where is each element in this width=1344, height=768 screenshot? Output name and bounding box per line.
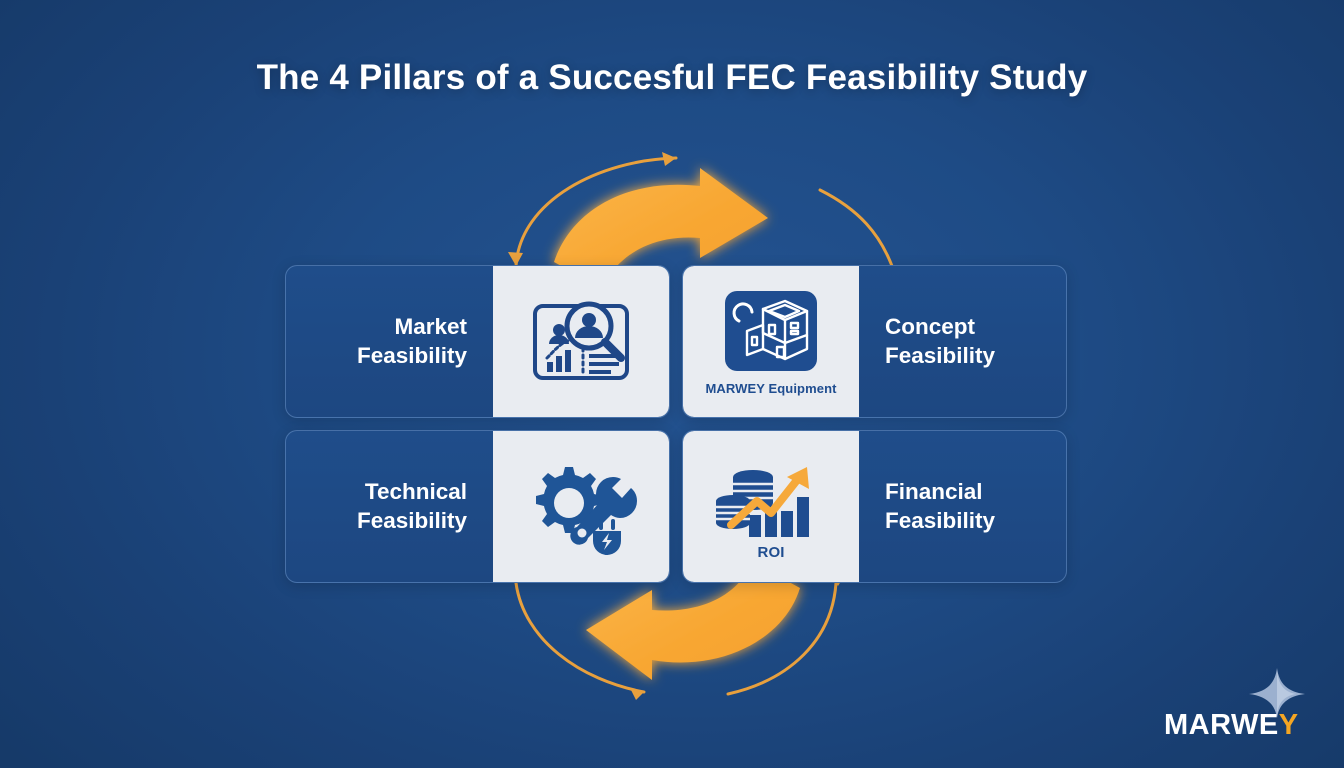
infographic-canvas: The 4 Pillars of a Succesful FEC Feasibi… xyxy=(0,0,1344,768)
logo-word-accent: Y xyxy=(1279,709,1299,741)
thin-arc-bottom xyxy=(516,574,845,700)
card-concept-icon-panel: MARWEY Equipment xyxy=(683,266,859,417)
coins-growth-chart-icon xyxy=(715,453,827,541)
card-market-feasibility[interactable]: Market Feasibility xyxy=(285,265,670,418)
gear-wrench-plug-icon xyxy=(525,459,637,555)
card-technical-feasibility[interactable]: Technical Feasibility xyxy=(285,430,670,583)
card-financial-icon-caption: ROI xyxy=(758,544,785,561)
card-financial-icon-panel: ROI xyxy=(683,431,859,582)
card-concept-feasibility[interactable]: MARWEY Equipment Concept Feasibility xyxy=(682,265,1067,418)
logo-wordmark: MARWEY xyxy=(1164,711,1299,740)
card-technical-label: Technical Feasibility xyxy=(286,431,493,582)
card-market-label: Market Feasibility xyxy=(286,266,493,417)
card-financial-feasibility[interactable]: ROI Financial Feasibility xyxy=(682,430,1067,583)
market-research-icon xyxy=(527,292,635,392)
card-financial-label: Financial Feasibility xyxy=(859,431,1066,582)
card-market-icon-panel xyxy=(493,266,669,417)
card-concept-label: Concept Feasibility xyxy=(859,266,1066,417)
building-equipment-icon xyxy=(719,287,823,377)
card-concept-icon-caption: MARWEY Equipment xyxy=(705,381,836,396)
pillars-grid: Market Feasibility xyxy=(285,265,1067,583)
thin-arc-top xyxy=(508,152,892,266)
marwey-logo[interactable]: MARWEY xyxy=(1164,672,1324,746)
card-technical-icon-panel xyxy=(493,431,669,582)
logo-word-main: MARWE xyxy=(1164,709,1279,741)
page-title: The 4 Pillars of a Succesful FEC Feasibi… xyxy=(0,58,1344,98)
